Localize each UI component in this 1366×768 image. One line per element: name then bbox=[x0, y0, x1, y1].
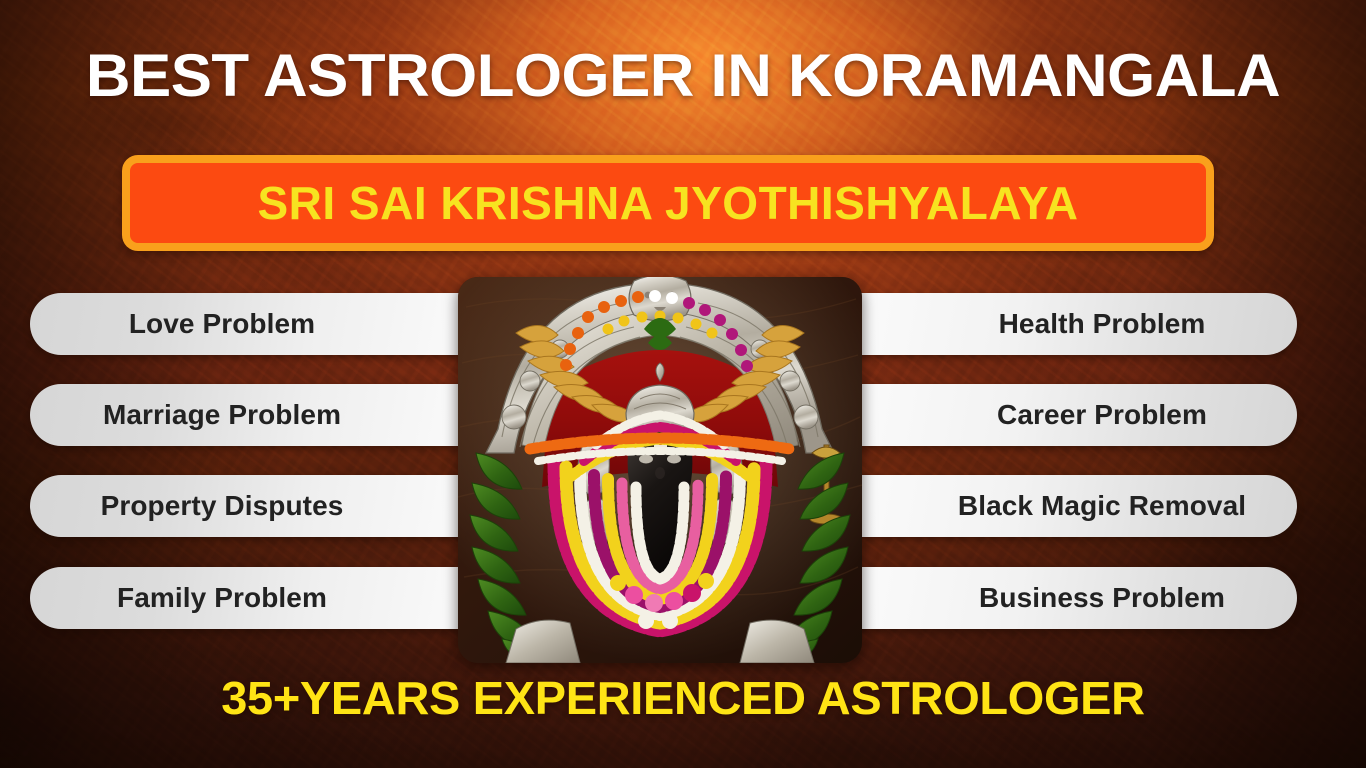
service-label: Family Problem bbox=[30, 584, 480, 612]
astrologer-promo-banner: BEST ASTROLOGER IN KORAMANGALA SRI SAI K… bbox=[0, 0, 1366, 768]
service-pill-love-problem[interactable]: Love Problem bbox=[30, 293, 480, 355]
service-label: Property Disputes bbox=[30, 492, 480, 520]
service-label: Business Problem bbox=[847, 584, 1297, 612]
service-label: Health Problem bbox=[847, 310, 1297, 338]
service-pill-marriage-problem[interactable]: Marriage Problem bbox=[30, 384, 480, 446]
service-pill-business-problem[interactable]: Business Problem bbox=[847, 567, 1297, 629]
page-title: BEST ASTROLOGER IN KORAMANGALA bbox=[0, 46, 1366, 106]
service-pill-career-problem[interactable]: Career Problem bbox=[847, 384, 1297, 446]
service-pill-property-disputes[interactable]: Property Disputes bbox=[30, 475, 480, 537]
service-label: Career Problem bbox=[847, 401, 1297, 429]
service-pill-health-problem[interactable]: Health Problem bbox=[847, 293, 1297, 355]
service-label: Black Magic Removal bbox=[847, 492, 1297, 520]
service-pill-black-magic-removal[interactable]: Black Magic Removal bbox=[847, 475, 1297, 537]
business-name-plate: SRI SAI KRISHNA JYOTHISHYALAYA bbox=[122, 155, 1214, 251]
service-pill-family-problem[interactable]: Family Problem bbox=[30, 567, 480, 629]
business-name-text: SRI SAI KRISHNA JYOTHISHYALAYA bbox=[257, 180, 1078, 226]
deity-idol-illustration bbox=[458, 277, 862, 663]
experience-tagline: 35+YEARS EXPERIENCED ASTROLOGER bbox=[0, 675, 1366, 721]
deity-idol-photo bbox=[458, 277, 862, 663]
service-label: Love Problem bbox=[30, 310, 480, 338]
service-label: Marriage Problem bbox=[30, 401, 480, 429]
